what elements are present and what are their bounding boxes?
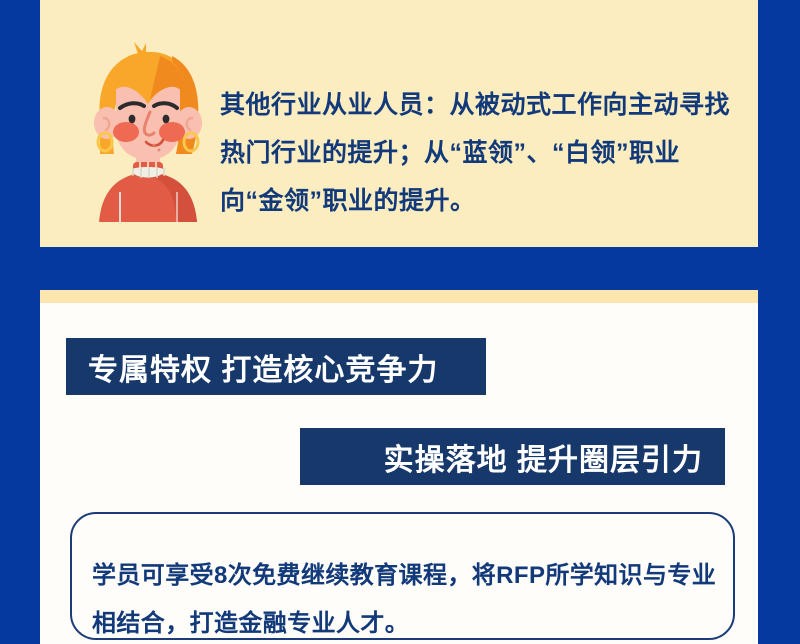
promo-poster: 其他行业从业人员：从被动式工作向主动寻找热门行业的提升；从“蓝领”、“白领”职业… [0, 0, 800, 644]
top-card-paragraph: 其他行业从业人员：从被动式工作向主动寻找热门行业的提升；从“蓝领”、“白领”职业… [220, 81, 732, 225]
banner-two-label: 实操落地 提升圈层引力 [384, 435, 703, 479]
info-callout-box: 学员可享受8次免费继续教育课程，将RFP所学知识与专业相结合，打造金融专业人才。 [70, 512, 735, 640]
banner-exclusive-privilege: 专属特权 打造核心竞争力 [66, 338, 486, 395]
top-cream-card: 其他行业从业人员：从被动式工作向主动寻找热门行业的提升；从“蓝领”、“白领”职业… [40, 0, 758, 247]
banner-one-label: 专属特权 打造核心竞争力 [88, 345, 438, 389]
card-top-accent-strip [40, 290, 758, 303]
bottom-white-card: 专属特权 打造核心竞争力 实操落地 提升圈层引力 学员可享受8次免费继续教育课程… [40, 290, 758, 644]
banner-practical-implementation: 实操落地 提升圈层引力 [300, 428, 725, 485]
info-callout-text: 学员可享受8次免费继续教育课程，将RFP所学知识与专业相结合，打造金融专业人才。 [92, 552, 717, 644]
avatar [80, 42, 215, 222]
female-illustration-avatar-icon [80, 42, 215, 222]
